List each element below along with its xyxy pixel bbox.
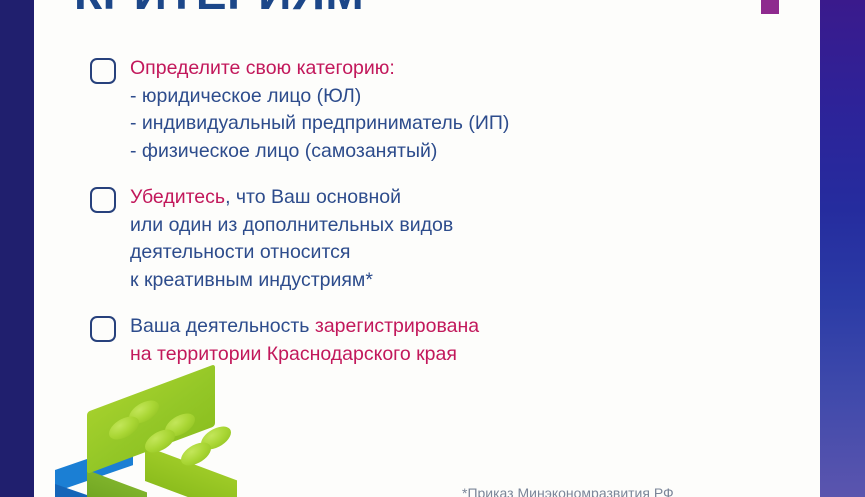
criteria-segment: зарегистрирована bbox=[315, 315, 479, 337]
criteria-list: Определите свою категорию: - юридическое… bbox=[90, 55, 710, 387]
checkbox-category[interactable] bbox=[90, 58, 116, 84]
criteria-item[interactable]: Ваша деятельность зарегистрирована на те… bbox=[90, 313, 710, 368]
footnote-text: *Приказ Минэкономразвития РФ bbox=[462, 484, 674, 497]
purple-accent-marker bbox=[761, 0, 779, 14]
criteria-line: - индивидуальный предприниматель (ИП) bbox=[130, 110, 509, 138]
criteria-line: к креативным индустриям* bbox=[130, 267, 453, 295]
criteria-segment: - индивидуальный предприниматель (ИП) bbox=[130, 112, 509, 134]
page-title: КРИТЕРИЯМ bbox=[74, 0, 364, 16]
criteria-line: Убедитесь, что Ваш основной bbox=[130, 184, 453, 212]
criteria-segment: Определите свою категорию: bbox=[130, 57, 395, 79]
criteria-line: - физическое лицо (самозанятый) bbox=[130, 138, 509, 166]
criteria-segment: - физическое лицо (самозанятый) bbox=[130, 140, 437, 162]
criteria-item-text: Определите свою категорию: - юридическое… bbox=[130, 55, 509, 165]
right-decorative-gradient-bar bbox=[820, 0, 865, 497]
checkbox-registration-region[interactable] bbox=[90, 316, 116, 342]
criteria-segment: к креативным индустриям* bbox=[130, 269, 373, 291]
criteria-line: Определите свою категорию: bbox=[130, 55, 509, 83]
left-decorative-bar bbox=[0, 0, 34, 497]
slide-canvas: КРИТЕРИЯМ Определите свою категорию: - ю… bbox=[0, 0, 865, 497]
criteria-segment: Убедитесь bbox=[130, 186, 225, 208]
criteria-segment: - юридическое лицо (ЮЛ) bbox=[130, 85, 361, 107]
criteria-segment: деятельности относится bbox=[130, 241, 350, 263]
criteria-line: - юридическое лицо (ЮЛ) bbox=[130, 83, 509, 111]
criteria-item[interactable]: Убедитесь, что Ваш основной или один из … bbox=[90, 184, 710, 294]
checkbox-activity-type[interactable] bbox=[90, 187, 116, 213]
criteria-item-text: Ваша деятельность зарегистрирована на те… bbox=[130, 313, 479, 368]
criteria-segment: Ваша деятельность bbox=[130, 315, 315, 337]
criteria-line: на территории Краснодарского края bbox=[130, 341, 479, 369]
criteria-line: Ваша деятельность зарегистрирована bbox=[130, 313, 479, 341]
criteria-segment: , что Ваш основной bbox=[225, 186, 401, 208]
criteria-line: деятельности относится bbox=[130, 239, 453, 267]
criteria-line: или один из дополнительных видов bbox=[130, 212, 453, 240]
criteria-item-text: Убедитесь, что Ваш основной или один из … bbox=[130, 184, 453, 294]
criteria-segment: или один из дополнительных видов bbox=[130, 214, 453, 236]
criteria-item[interactable]: Определите свою категорию: - юридическое… bbox=[90, 55, 710, 165]
lego-decoration bbox=[55, 408, 255, 497]
criteria-segment: на территории Краснодарского края bbox=[130, 343, 457, 365]
